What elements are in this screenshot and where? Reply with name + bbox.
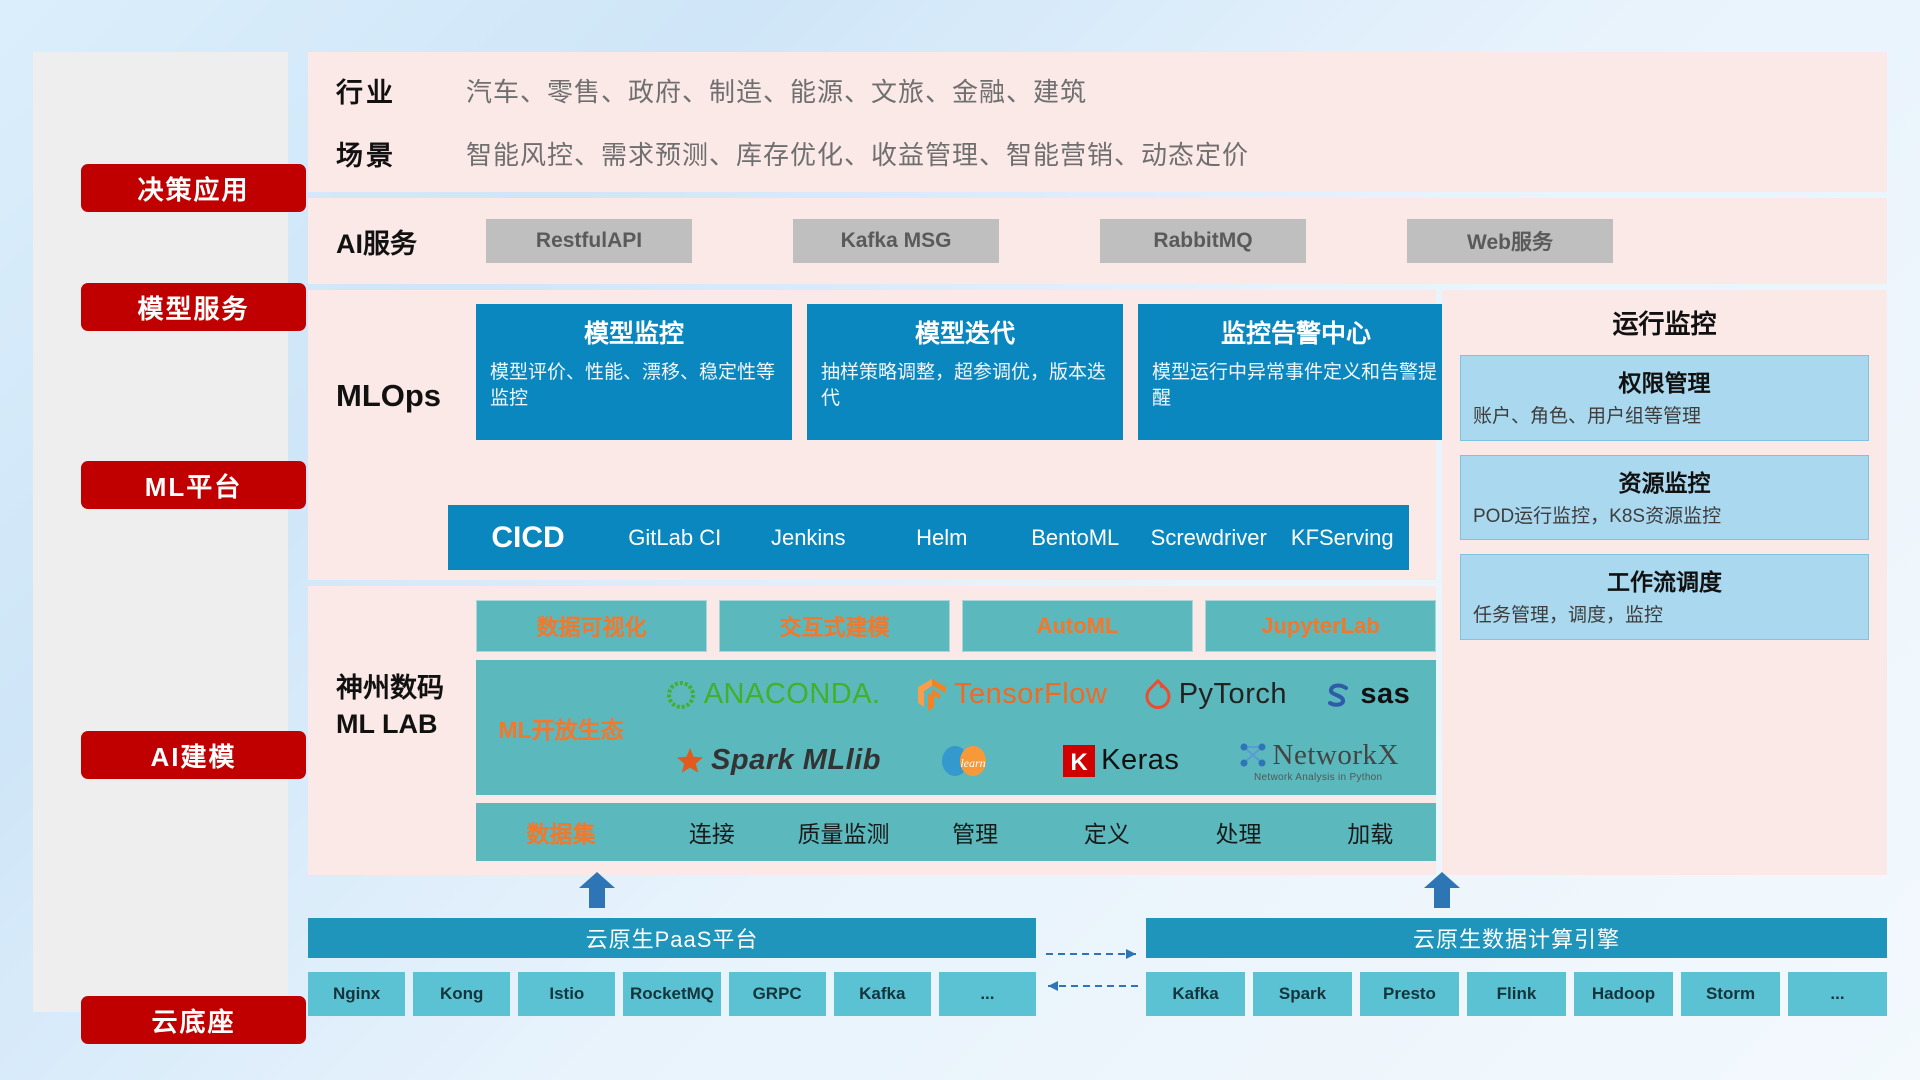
cloud-chip-hadoop[interactable]: Hadoop — [1574, 972, 1673, 1016]
scikit-learn-icon: learn — [939, 745, 993, 777]
tensorflow-icon — [916, 677, 948, 713]
cicd-item-jenkins[interactable]: Jenkins — [742, 527, 876, 549]
svg-text:K: K — [1070, 749, 1088, 776]
modeling-band: 神州数码 ML LAB 数据可视化 交互式建模 AutoML JupyterLa… — [308, 586, 1436, 875]
dataset-item-manage[interactable]: 管理 — [909, 815, 1041, 849]
networkx-tagline: Network Analysis in Python — [1254, 772, 1382, 783]
monitoring-card-resource-title: 资源监控 — [1473, 464, 1856, 498]
ai-service-chip-web-service[interactable]: Web服务 — [1407, 219, 1613, 263]
cloud-chip-storm[interactable]: Storm — [1681, 972, 1780, 1016]
monitoring-card-resource[interactable]: 资源监控 POD运行监控，K8S资源监控 — [1460, 455, 1869, 541]
layer-chip-ai-modeling[interactable]: AI建模 — [81, 731, 306, 779]
monitoring-column: 运行监控 权限管理 账户、角色、用户组等管理 资源监控 POD运行监控，K8S资… — [1442, 290, 1887, 875]
keras-logo: K Keras — [1063, 744, 1179, 777]
ai-service-chip-kafka-msg-label: Kafka MSG — [841, 229, 952, 253]
monitoring-card-permission[interactable]: 权限管理 账户、角色、用户组等管理 — [1460, 355, 1869, 441]
dataset-item-connect[interactable]: 连接 — [646, 815, 778, 849]
cloud-chip-more-compute[interactable]: ... — [1788, 972, 1887, 1016]
ai-service-label: AI服务 — [336, 222, 486, 261]
anaconda-logo: ANACONDA. — [664, 678, 881, 712]
mlops-band: MLOps 模型监控 模型评价、性能、漂移、稳定性等监控 模型迭代 抽样策略调整… — [308, 290, 1436, 505]
keras-icon: K — [1063, 745, 1095, 777]
cicd-item-screwdriver[interactable]: Screwdriver — [1142, 527, 1276, 549]
monitoring-card-workflow-desc: 任务管理，调度，监控 — [1473, 603, 1856, 629]
tool-chip-data-visualization[interactable]: 数据可视化 — [476, 600, 707, 652]
pytorch-logo: PyTorch — [1143, 678, 1287, 712]
dataset-item-process[interactable]: 处理 — [1173, 815, 1305, 849]
mlops-card-model-monitoring[interactable]: 模型监控 模型评价、性能、漂移、稳定性等监控 — [476, 304, 792, 440]
cloud-chip-rocketmq[interactable]: RocketMQ — [623, 972, 720, 1016]
monitoring-card-resource-desc: POD运行监控，K8S资源监控 — [1473, 504, 1856, 530]
monitoring-card-workflow-title: 工作流调度 — [1473, 563, 1856, 597]
spark-icon — [675, 746, 705, 776]
mlops-card-alert-center-title: 监控告警中心 — [1152, 314, 1440, 350]
scenario-label: 场景 — [336, 134, 466, 173]
platform-column: MLOps 模型监控 模型评价、性能、漂移、稳定性等监控 模型迭代 抽样策略调整… — [308, 290, 1436, 875]
tool-chip-jupyterlab[interactable]: JupyterLab — [1205, 600, 1436, 652]
layer-chip-cloud-base[interactable]: 云底座 — [81, 996, 306, 1044]
layer-chip-decision-label: 决策应用 — [137, 170, 249, 207]
main-content: 行业 汽车、零售、政府、制造、能源、文旅、金融、建筑 场景 智能风控、需求预测、… — [308, 52, 1887, 875]
tensorflow-logo: TensorFlow — [916, 677, 1107, 713]
mlops-card-model-monitoring-desc: 模型评价、性能、漂移、稳定性等监控 — [490, 360, 778, 412]
sas-icon — [1322, 679, 1354, 711]
cicd-item-kfserving[interactable]: KFServing — [1276, 527, 1410, 549]
cloud-paas-column: 云原生PaaS平台 Nginx Kong Istio RocketMQ GRPC… — [308, 918, 1036, 1016]
cloud-chip-more-paas[interactable]: ... — [939, 972, 1036, 1016]
cloud-chip-grpc[interactable]: GRPC — [729, 972, 826, 1016]
sas-logo: sas — [1322, 678, 1410, 711]
sas-logo-text: sas — [1360, 678, 1410, 711]
scenario-row: 场景 智能风控、需求预测、库存优化、收益管理、智能营销、动态定价 — [336, 134, 1249, 173]
dataset-item-define[interactable]: 定义 — [1041, 815, 1173, 849]
monitoring-card-permission-desc: 账户、角色、用户组等管理 — [1473, 404, 1856, 430]
cloud-compute-column: 云原生数据计算引擎 Kafka Spark Presto Flink Hadoo… — [1146, 918, 1887, 1016]
ai-service-band: AI服务 RestfulAPI Kafka MSG RabbitMQ Web服务 — [308, 198, 1887, 284]
cicd-band: CICD GitLab CI Jenkins Helm BentoML Scre… — [308, 505, 1436, 580]
arrow-up-compute-icon — [1423, 872, 1461, 908]
industry-label: 行业 — [336, 71, 466, 110]
mlops-card-model-iteration-desc: 抽样策略调整，超参调优，版本迭代 — [821, 360, 1109, 412]
tool-chip-interactive-modeling[interactable]: 交互式建模 — [719, 600, 950, 652]
bidirectional-dashed-link-icon — [1044, 938, 1140, 1000]
ai-service-chip-kafka-msg[interactable]: Kafka MSG — [793, 219, 999, 263]
ai-service-chip-web-service-label: Web服务 — [1467, 226, 1553, 256]
networkx-logo-text: NetworkX — [1273, 739, 1399, 772]
spark-mllib-logo: Spark MLlib — [675, 744, 881, 777]
pytorch-icon — [1143, 678, 1173, 712]
ai-service-chip-restfulapi[interactable]: RestfulAPI — [486, 219, 692, 263]
ml-ecosystem-row: ML开放生态 ANACONDA. — [476, 660, 1436, 795]
cicd-item-bentoml[interactable]: BentoML — [1009, 527, 1143, 549]
cloud-chip-nginx[interactable]: Nginx — [308, 972, 405, 1016]
ai-service-chip-restfulapi-label: RestfulAPI — [536, 229, 642, 253]
mlops-card-alert-center-desc: 模型运行中异常事件定义和告警提醒 — [1152, 360, 1440, 412]
layer-chip-model-service[interactable]: 模型服务 — [81, 283, 306, 331]
ai-service-chip-rabbitmq-label: RabbitMQ — [1153, 229, 1252, 253]
spark-mllib-logo-text: Spark MLlib — [711, 744, 881, 777]
tool-chip-automl[interactable]: AutoML — [962, 600, 1193, 652]
industry-row: 行业 汽车、零售、政府、制造、能源、文旅、金融、建筑 — [336, 71, 1249, 110]
mlops-label: MLOps — [336, 378, 476, 414]
ai-service-chip-rabbitmq[interactable]: RabbitMQ — [1100, 219, 1306, 263]
monitoring-card-workflow[interactable]: 工作流调度 任务管理，调度，监控 — [1460, 554, 1869, 640]
mlops-card-model-iteration-title: 模型迭代 — [821, 314, 1109, 350]
diagram-root: 决策应用 模型服务 ML平台 AI建模 云底座 行业 汽车、零售、政府、制造、能… — [0, 0, 1920, 1080]
left-layer-rail: 决策应用 模型服务 ML平台 AI建模 云底座 — [33, 52, 288, 1012]
cloud-chip-spark[interactable]: Spark — [1253, 972, 1352, 1016]
mlops-card-model-monitoring-title: 模型监控 — [490, 314, 778, 350]
dataset-item-load[interactable]: 加载 — [1304, 815, 1436, 849]
mlops-card-alert-center[interactable]: 监控告警中心 模型运行中异常事件定义和告警提醒 — [1138, 304, 1454, 440]
layer-chip-model-service-label: 模型服务 — [137, 289, 249, 326]
cloud-chip-kong[interactable]: Kong — [413, 972, 510, 1016]
monitoring-title: 运行监控 — [1460, 304, 1869, 341]
ml-ecosystem-logos-row-2: Spark MLlib learn scikit-learn — [646, 730, 1428, 792]
modeling-label: 神州数码 ML LAB — [336, 670, 476, 861]
svg-text:learn: learn — [960, 756, 985, 770]
dataset-row: 数据集 连接 质量监测 管理 定义 处理 加载 — [476, 803, 1436, 861]
mlops-card-model-iteration[interactable]: 模型迭代 抽样策略调整，超参调优，版本迭代 — [807, 304, 1123, 440]
arrow-up-paas-icon — [578, 872, 616, 908]
industry-text: 汽车、零售、政府、制造、能源、文旅、金融、建筑 — [466, 72, 1087, 109]
monitoring-card-permission-title: 权限管理 — [1473, 364, 1856, 398]
layer-chip-decision[interactable]: 决策应用 — [81, 164, 306, 212]
cloud-chip-flink[interactable]: Flink — [1467, 972, 1566, 1016]
scikit-learn-logo: learn scikit-learn — [939, 745, 1005, 777]
layer-chip-ai-modeling-label: AI建模 — [150, 737, 236, 774]
keras-logo-text: Keras — [1101, 744, 1179, 777]
anaconda-icon — [664, 678, 698, 712]
cloud-chip-presto[interactable]: Presto — [1360, 972, 1459, 1016]
platform-and-monitoring: MLOps 模型监控 模型评价、性能、漂移、稳定性等监控 模型迭代 抽样策略调整… — [308, 290, 1887, 875]
dataset-label: 数据集 — [476, 815, 646, 849]
cloud-chip-kafka-paas[interactable]: Kafka — [834, 972, 931, 1016]
pytorch-logo-text: PyTorch — [1179, 678, 1287, 711]
tensorflow-logo-text: TensorFlow — [954, 678, 1107, 711]
cloud-chip-kafka-compute[interactable]: Kafka — [1146, 972, 1245, 1016]
scenario-text: 智能风控、需求预测、库存优化、收益管理、智能营销、动态定价 — [466, 135, 1249, 172]
networkx-logo: NetworkX Network Analysis in Python — [1238, 739, 1399, 783]
cloud-chip-istio[interactable]: Istio — [518, 972, 615, 1016]
cloud-base-section: 云原生PaaS平台 Nginx Kong Istio RocketMQ GRPC… — [308, 890, 1887, 1020]
layer-chip-cloud-base-label: 云底座 — [151, 1002, 235, 1039]
anaconda-logo-text: ANACONDA. — [704, 678, 881, 711]
ml-ecosystem-logos-row-1: ANACONDA. — [646, 664, 1428, 726]
networkx-icon — [1238, 741, 1268, 769]
modeling-label-line2: ML LAB — [336, 706, 476, 742]
layer-chip-ml-platform[interactable]: ML平台 — [81, 461, 306, 509]
layer-chip-ml-platform-label: ML平台 — [145, 467, 243, 504]
dataset-item-quality-monitor[interactable]: 质量监测 — [778, 815, 910, 849]
cicd-title: CICD — [448, 521, 608, 555]
ml-ecosystem-label: ML开放生态 — [476, 711, 646, 745]
decision-band: 行业 汽车、零售、政府、制造、能源、文旅、金融、建筑 场景 智能风控、需求预测、… — [308, 52, 1887, 192]
cicd-item-helm[interactable]: Helm — [875, 527, 1009, 549]
modeling-tool-row: 数据可视化 交互式建模 AutoML JupyterLab — [476, 600, 1436, 652]
cicd-item-gitlab-ci[interactable]: GitLab CI — [608, 527, 742, 549]
cloud-paas-title: 云原生PaaS平台 — [308, 918, 1036, 958]
modeling-label-line1: 神州数码 — [336, 670, 476, 706]
cloud-compute-title: 云原生数据计算引擎 — [1146, 918, 1887, 958]
